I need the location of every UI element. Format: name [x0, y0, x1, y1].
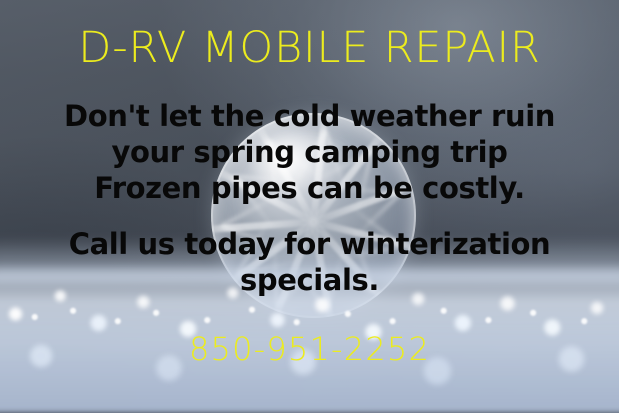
message-line-3: Frozen pipes can be costly.: [0, 170, 619, 206]
message-block-primary: Don't let the cold weather ruin your spr…: [0, 98, 619, 206]
headline-business-name: D-RV MOBILE REPAIR: [0, 27, 619, 70]
phone-number[interactable]: 850-951-2252: [0, 333, 619, 365]
message-line-2: your spring camping trip: [0, 134, 619, 170]
advertisement-banner: D-RV MOBILE REPAIR Don't let the cold we…: [0, 0, 619, 413]
message-block-call-to-action: Call us today for winterization specials…: [0, 226, 619, 298]
cta-line-1: Call us today for winterization: [0, 226, 619, 262]
text-overlay: D-RV MOBILE REPAIR Don't let the cold we…: [0, 0, 619, 413]
cta-line-2: specials.: [0, 262, 619, 298]
message-line-1: Don't let the cold weather ruin: [0, 98, 619, 134]
